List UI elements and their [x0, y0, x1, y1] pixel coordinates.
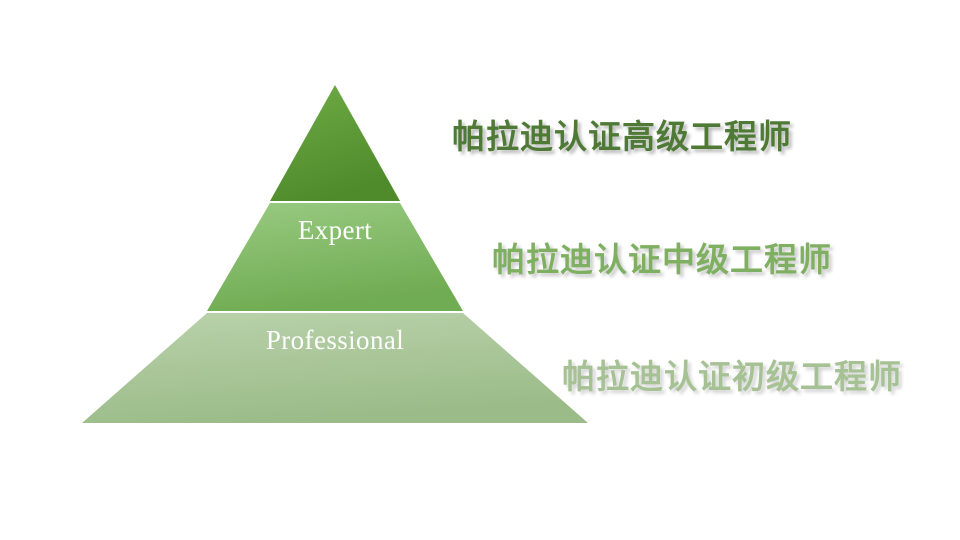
caption-senior-engineer: 帕拉迪认证高级工程师 — [452, 110, 792, 158]
pyramid-tier-expert[interactable] — [270, 85, 400, 201]
pyramid-tier-professional[interactable] — [207, 203, 463, 311]
slide-canvas: Expert Professional Engineer 帕拉迪认证高级工程师 … — [0, 0, 960, 540]
pyramid-tier-engineer[interactable] — [82, 313, 588, 423]
caption-junior-engineer: 帕拉迪认证初级工程师 — [562, 350, 902, 398]
caption-intermediate-engineer: 帕拉迪认证中级工程师 — [492, 233, 832, 281]
tier-label-engineer: Engineer — [70, 437, 600, 468]
